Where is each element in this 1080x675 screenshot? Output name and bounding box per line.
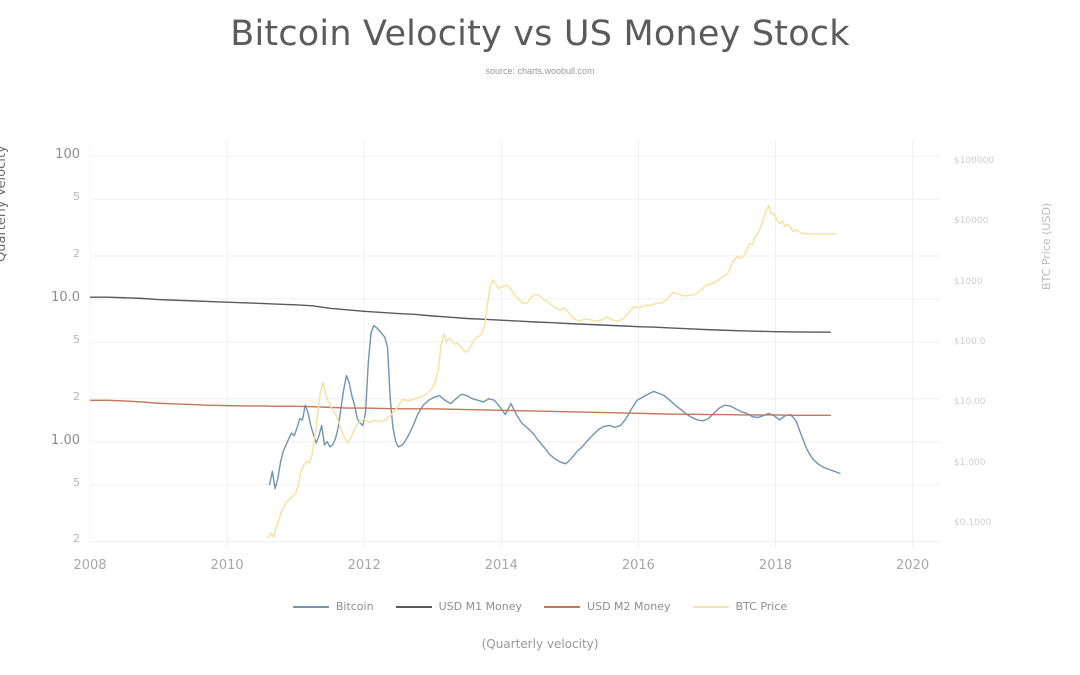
y-axis-right-tick: $10000 [954, 216, 1044, 226]
chart-legend: BitcoinUSD M1 MoneyUSD M2 MoneyBTC Price [0, 600, 1080, 613]
x-axis-tick: 2008 [50, 558, 130, 573]
y-axis-right-tick: $1.000 [954, 458, 1044, 468]
plot-area [90, 140, 940, 548]
y-axis-left-tick: 5 [18, 333, 80, 346]
x-axis-tick: 2012 [324, 558, 404, 573]
series-line-btc-price [268, 205, 836, 537]
x-axis-tick: 2016 [598, 558, 678, 573]
x-axis-tick: 2010 [187, 558, 267, 573]
legend-label: USD M1 Money [439, 600, 522, 613]
y-axis-right-tick: $100.0 [954, 337, 1044, 347]
series-line-usd-m1-money [90, 297, 830, 332]
y-axis-left-tick: 2 [18, 247, 80, 260]
legend-item-btc-price[interactable]: BTC Price [693, 600, 788, 613]
series-layer [90, 205, 840, 537]
legend-item-usd-m2-money[interactable]: USD M2 Money [544, 600, 670, 613]
gridlines [90, 140, 940, 548]
y-axis-right-tick: $0.1000 [954, 518, 1044, 528]
chart-caption: (Quarterly velocity) [0, 637, 1080, 651]
legend-swatch-icon [293, 606, 329, 608]
legend-item-usd-m1-money[interactable]: USD M1 Money [396, 600, 522, 613]
y-axis-left-tick: 1.00 [18, 433, 80, 448]
legend-item-bitcoin[interactable]: Bitcoin [293, 600, 374, 613]
y-axis-left-tick: 2 [18, 390, 80, 403]
x-axis-tick: 2020 [873, 558, 953, 573]
legend-swatch-icon [544, 606, 580, 608]
y-axis-left-tick: 100 [18, 147, 80, 162]
y-axis-right-tick: $100000 [954, 156, 1044, 166]
y-axis-left-label: Quarterly Velocity [0, 82, 9, 262]
legend-label: USD M2 Money [587, 600, 670, 613]
x-axis-tick: 2014 [461, 558, 541, 573]
y-axis-right-tick: $10.00 [954, 397, 1044, 407]
chart-container: Bitcoin Velocity vs US Money Stock sourc… [0, 0, 1080, 675]
plot-svg [90, 140, 940, 548]
x-axis-tick: 2018 [735, 558, 815, 573]
y-axis-left-tick: 2 [18, 532, 80, 545]
legend-label: Bitcoin [336, 600, 374, 613]
series-line-bitcoin [270, 326, 840, 489]
legend-swatch-icon [396, 606, 432, 608]
legend-label: BTC Price [736, 600, 788, 613]
chart-subtitle: source: charts.woobull.com [0, 66, 1080, 76]
y-axis-left-tick: 5 [18, 476, 80, 489]
y-axis-right-tick: $1000 [954, 277, 1044, 287]
chart-title: Bitcoin Velocity vs US Money Stock [0, 14, 1080, 54]
legend-swatch-icon [693, 606, 729, 608]
y-axis-left-tick: 10.0 [18, 290, 80, 305]
y-axis-left-tick: 5 [18, 190, 80, 203]
y-axis-right-label: BTC Price (USD) [1040, 110, 1053, 290]
